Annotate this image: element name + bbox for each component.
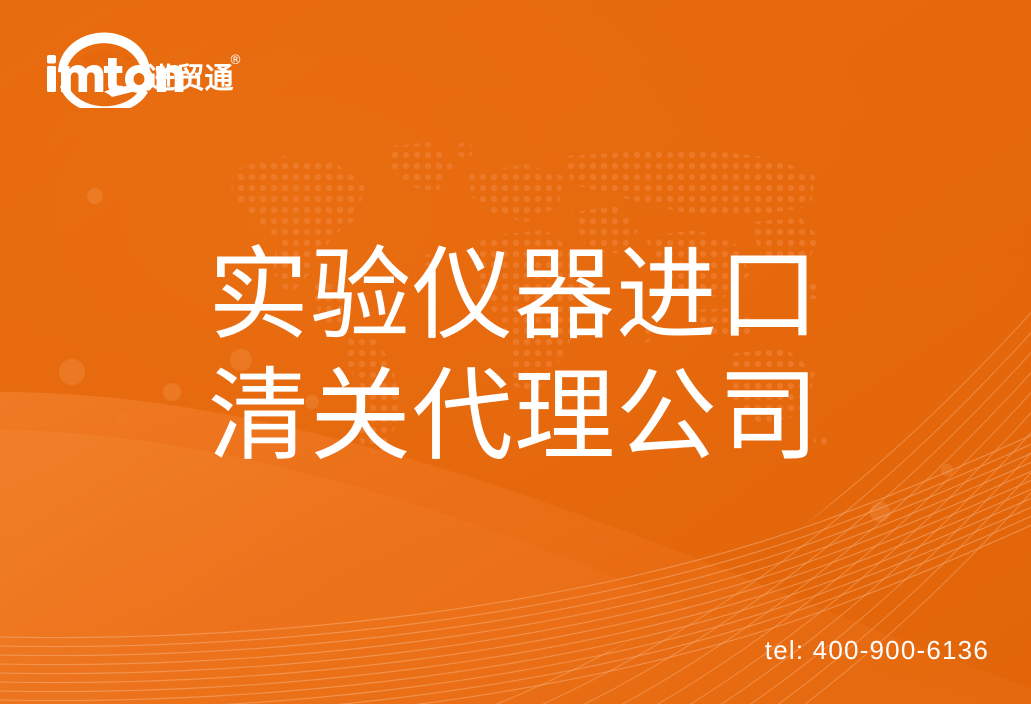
- contact-phone[interactable]: tel: 400-900-6136: [765, 635, 989, 666]
- promotional-banner: 进贸通 ® 实验仪器进口 清关代理公司 tel: 400-900-6136: [0, 0, 1031, 704]
- brand-logo[interactable]: 进贸通 ®: [30, 28, 245, 108]
- registered-trademark-icon: ®: [229, 53, 242, 68]
- headline-block: 实验仪器进口 清关代理公司: [208, 236, 838, 478]
- globe-swoosh-logo: 进贸通 ®: [30, 28, 245, 108]
- headline-line-2: 清关代理公司: [208, 357, 838, 478]
- logo-chinese-text: 进贸通: [146, 61, 233, 95]
- headline-line-1: 实验仪器进口: [208, 236, 838, 357]
